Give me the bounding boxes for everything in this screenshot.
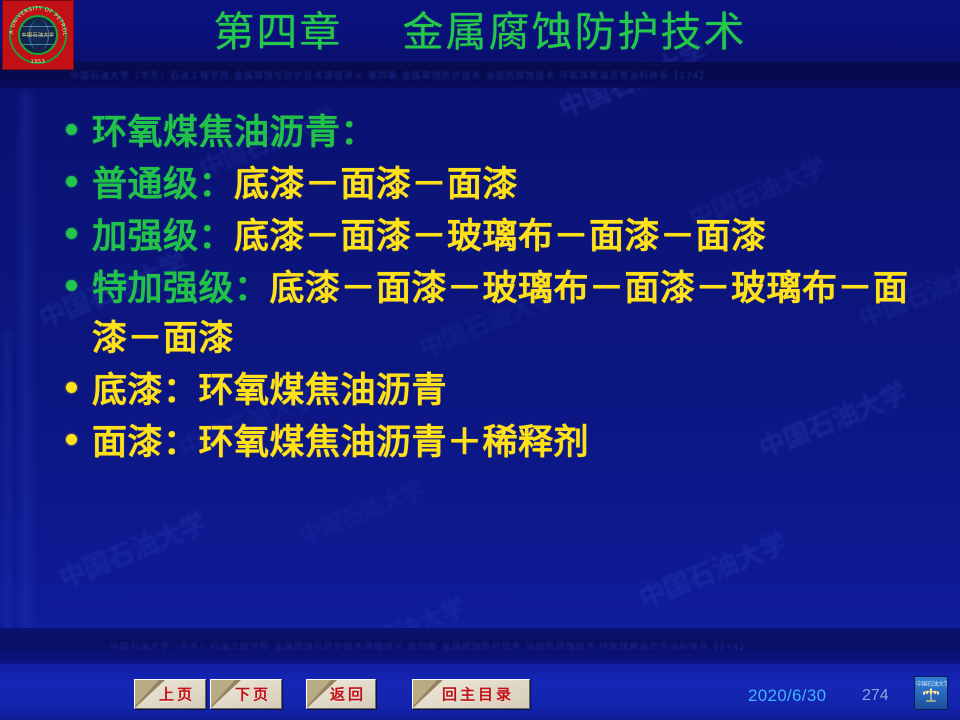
- main-menu-button[interactable]: 回主目录: [412, 679, 530, 709]
- return-label: 返回: [307, 684, 375, 705]
- bullet-text-segment: 底漆：环氧煤焦油沥青: [92, 370, 447, 411]
- bullet-item: 特加强级：底漆－面漆－玻璃布－面漆－玻璃布－面漆－面漆: [58, 264, 918, 364]
- menorah-glyph-icon: [920, 685, 942, 705]
- return-button[interactable]: 返回: [306, 679, 376, 709]
- footer-band-microtext: 中国石油大学（华东）石油工程学院·金属腐蚀与防护技术课程讲义 第四章 金属腐蚀防…: [110, 640, 750, 653]
- previous-page-button[interactable]: 上页: [134, 679, 206, 709]
- bullet-text-segment: 特加强级：: [92, 268, 270, 309]
- bullet-text-segment: 底漆－面漆－面漆: [234, 164, 518, 205]
- bullet-text-segment: 环氧煤焦油沥青：: [92, 112, 376, 153]
- previous-page-label: 上页: [135, 684, 205, 705]
- bullet-text: 加强级：底漆－面漆－玻璃布－面漆－面漆: [92, 212, 918, 262]
- slide-date: 2020/6/30: [748, 686, 826, 706]
- next-page-label: 下页: [211, 684, 281, 705]
- bullet-item: 加强级：底漆－面漆－玻璃布－面漆－面漆: [58, 212, 918, 262]
- bullet-text: 特加强级：底漆－面漆－玻璃布－面漆－玻璃布－面漆－面漆: [92, 264, 918, 364]
- bullet-text: 普通级：底漆－面漆－面漆: [92, 160, 918, 210]
- bullet-marker-icon: [58, 418, 92, 466]
- header-divider-band: 中国石油大学（华东）石油工程学院·金属腐蚀与防护技术课程讲义 第四章 金属腐蚀防…: [0, 62, 960, 88]
- bullet-item: 面漆：环氧煤焦油沥青＋稀释剂: [58, 418, 918, 468]
- bullet-text-segment: 加强级：: [92, 216, 234, 257]
- bullet-text: 底漆：环氧煤焦油沥青: [92, 366, 918, 416]
- bullet-text-segment: 面漆：环氧煤焦油沥青＋稀释剂: [92, 422, 589, 463]
- bullet-text-segment: 底漆－面漆－玻璃布－面漆－面漆: [234, 216, 767, 257]
- slide-page-number: 274: [862, 687, 889, 705]
- presentation-slide: 中国石油大学中国石油大学中国石油大学中国石油大学中国石油大学中国石油大学中国石油…: [0, 0, 960, 720]
- bullet-item: 普通级：底漆－面漆－面漆: [58, 160, 918, 210]
- menorah-emblem-icon: 中国石油大学: [914, 676, 948, 710]
- bullet-marker-icon: [58, 366, 92, 414]
- bullet-item: 底漆：环氧煤焦油沥青: [58, 366, 918, 416]
- main-menu-label: 回主目录: [413, 684, 529, 705]
- bullet-text: 环氧煤焦油沥青：: [92, 108, 918, 158]
- bullet-marker-icon: [58, 264, 92, 312]
- next-page-button[interactable]: 下页: [210, 679, 282, 709]
- bullet-item: 环氧煤焦油沥青：: [58, 108, 918, 158]
- background-left-stripe-lower: [2, 330, 12, 630]
- footer-divider-band: 中国石油大学（华东）石油工程学院·金属腐蚀与防护技术课程讲义 第四章 金属腐蚀防…: [0, 628, 960, 664]
- bullet-marker-icon: [58, 108, 92, 156]
- bullet-list: 环氧煤焦油沥青：普通级：底漆－面漆－面漆加强级：底漆－面漆－玻璃布－面漆－面漆特…: [58, 108, 918, 470]
- page-title: 第四章 金属腐蚀防护技术: [0, 4, 960, 60]
- header-band-microtext: 中国石油大学（华东）石油工程学院·金属腐蚀与防护技术课程讲义 第四章 金属腐蚀防…: [70, 69, 710, 82]
- bullet-text: 面漆：环氧煤焦油沥青＋稀释剂: [92, 418, 918, 468]
- bullet-text-segment: 普通级：: [92, 164, 234, 205]
- background-left-stripe: [18, 90, 34, 630]
- bullet-marker-icon: [58, 160, 92, 208]
- bullet-marker-icon: [58, 212, 92, 260]
